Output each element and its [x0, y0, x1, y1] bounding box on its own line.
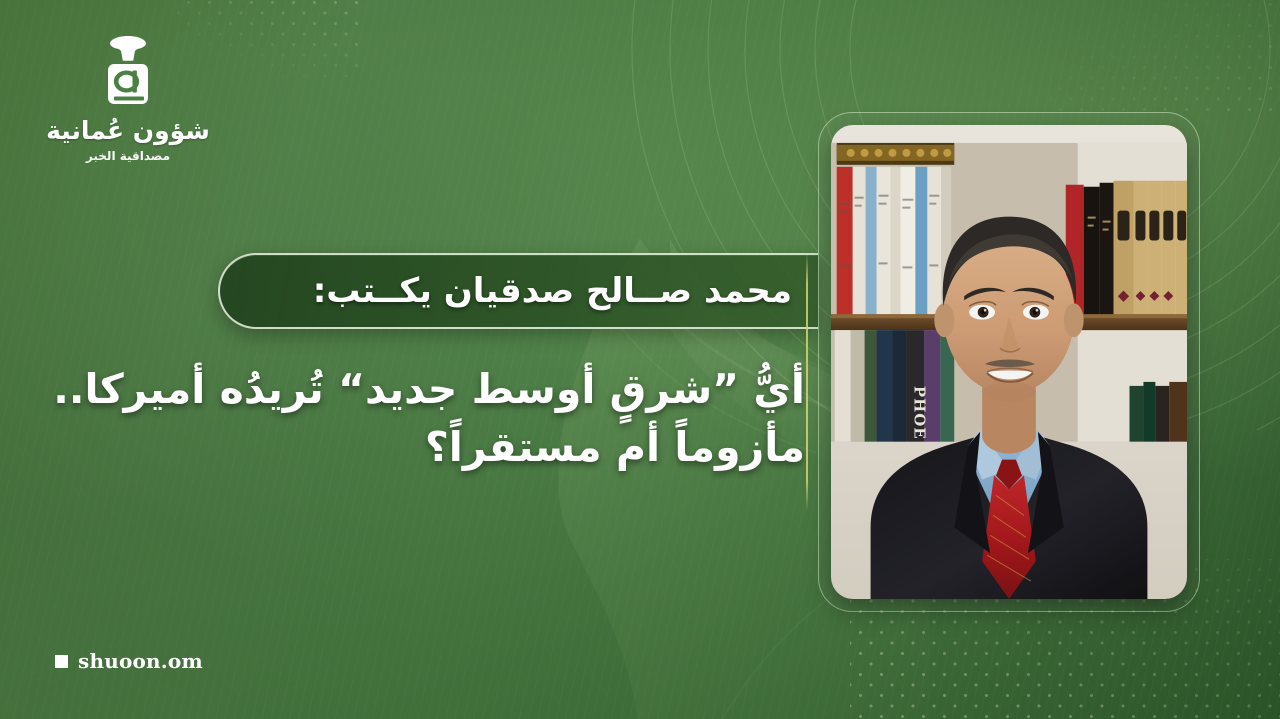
brand-logo: شؤون عُمانية مصداقية الخبر — [44, 34, 212, 162]
headline-line-1: أيُّ ”شرقٍ أوسط جديد“ تُريدُه أميركا.. — [90, 360, 805, 418]
footer-website-url: shuoon.om — [78, 649, 203, 673]
footer: shuoon.om — [55, 649, 203, 673]
oman-incense-burner-mark-icon — [96, 34, 160, 106]
headline-line-2: مأزوماً أم مستقراً؟ — [90, 418, 805, 476]
gold-vertical-rule — [806, 253, 808, 511]
author-banner-text: محمد صــالح صدقيان يكــتب: — [313, 271, 792, 311]
author-portrait-photo: PHOE — [831, 125, 1187, 599]
social-card-canvas: شؤون عُمانية مصداقية الخبر محمد صــالح ص… — [0, 0, 1280, 719]
author-banner: محمد صــالح صدقيان يكــتب: — [218, 253, 818, 329]
brand-name: شؤون عُمانية — [46, 118, 210, 143]
portrait-frame: PHOE — [818, 112, 1200, 612]
headline: أيُّ ”شرقٍ أوسط جديد“ تُريدُه أميركا.. م… — [90, 360, 805, 476]
dot-grid-top-right — [1050, 0, 1280, 114]
square-bullet-icon — [55, 655, 68, 668]
brand-tagline: مصداقية الخبر — [86, 150, 170, 162]
